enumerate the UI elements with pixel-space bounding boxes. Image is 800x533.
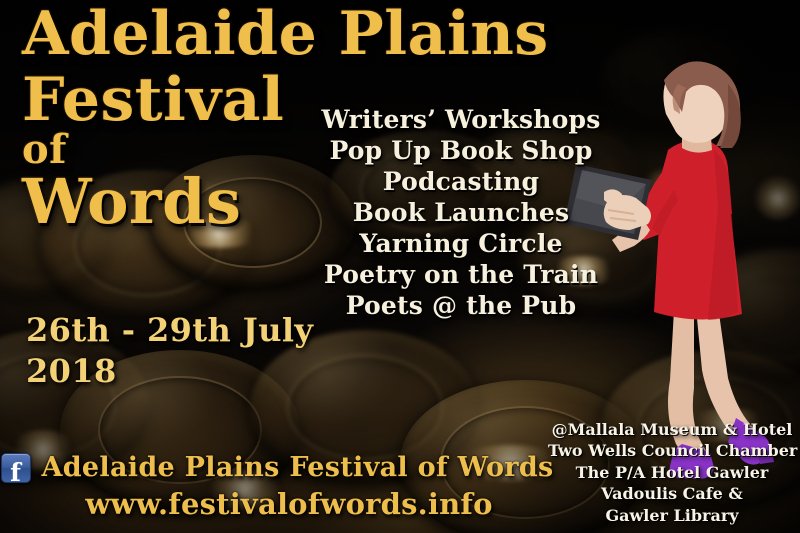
venue-item: Gawler Library: [548, 505, 796, 526]
venues-list: @Mallala Museum & Hotel Two Wells Counci…: [548, 419, 796, 526]
poster-footer: Adelaide Plains Festival of Words www.fe…: [0, 452, 548, 521]
venue-item: Vadoulis Cafe &: [548, 483, 796, 504]
event-item: Poets @ the Pub: [305, 290, 617, 321]
woman-reading-tablet-illustration: [590, 58, 800, 468]
event-item: Yarning Circle: [305, 228, 617, 259]
events-list: Writers’ Workshops Pop Up Book Shop Podc…: [305, 104, 617, 321]
event-item: Book Launches: [305, 197, 617, 228]
festival-poster: Adelaide Plains Festival of Words 26th -…: [0, 0, 800, 533]
facebook-page-name[interactable]: Adelaide Plains Festival of Words: [42, 452, 554, 483]
venue-item: @Mallala Museum & Hotel: [548, 419, 796, 440]
event-item: Poetry on the Train: [305, 259, 617, 290]
venue-item: The P/A Hotel Gawler: [548, 462, 796, 483]
festival-dates: 26th - 29th July 2018: [26, 310, 366, 392]
event-item: Podcasting: [305, 166, 617, 197]
title-line-1: Adelaide Plains: [22, 6, 582, 64]
event-item: Writers’ Workshops: [305, 104, 617, 135]
website-url[interactable]: www.festivalofwords.info: [0, 487, 548, 521]
venue-item: Two Wells Council Chamber: [548, 440, 796, 461]
facebook-icon[interactable]: [1, 453, 31, 483]
event-item: Pop Up Book Shop: [305, 135, 617, 166]
facebook-row[interactable]: Adelaide Plains Festival of Words: [0, 452, 548, 483]
